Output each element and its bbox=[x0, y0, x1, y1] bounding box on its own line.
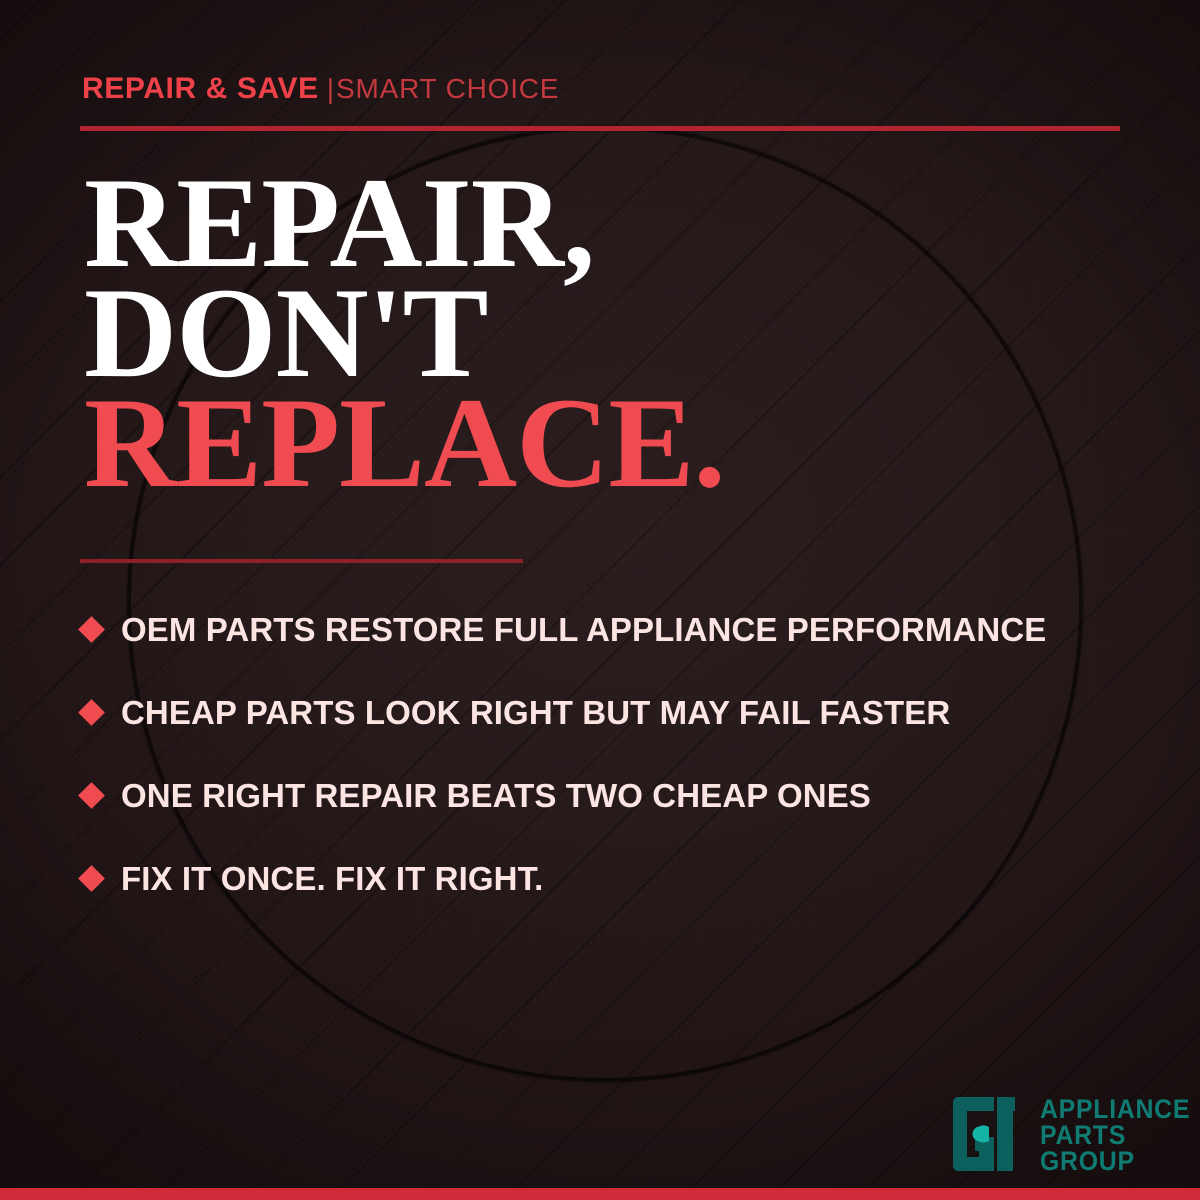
brand-logo-line-2: PARTS bbox=[1040, 1122, 1190, 1148]
diamond-bullet-icon bbox=[78, 699, 105, 726]
brand-logo-wordmark: APPLIANCE PARTS GROUP bbox=[1040, 1094, 1190, 1174]
list-item-label: OEM PARTS RESTORE FULL APPLIANCE PERFORM… bbox=[121, 611, 1046, 649]
list-item: ONE RIGHT REPAIR BEATS TWO CHEAP ONES bbox=[80, 754, 1155, 837]
headline-line-3: REPLACE. bbox=[84, 388, 725, 498]
eyebrow-kicker: REPAIR & SAVE bbox=[82, 72, 319, 105]
diamond-bullet-icon bbox=[78, 782, 105, 809]
diamond-bullet-icon bbox=[78, 616, 105, 643]
list-item-label: FIX IT ONCE. FIX IT RIGHT. bbox=[121, 860, 543, 898]
benefits-list: OEM PARTS RESTORE FULL APPLIANCE PERFORM… bbox=[80, 588, 1155, 920]
brand-logo-line-1: APPLIANCE bbox=[1040, 1096, 1190, 1122]
letter-g-monogram-icon bbox=[951, 1094, 1027, 1174]
brand-logo-line-3: GROUP bbox=[1040, 1148, 1190, 1174]
footer-accent-bar bbox=[0, 1188, 1200, 1200]
list-item: CHEAP PARTS LOOK RIGHT BUT MAY FAIL FAST… bbox=[80, 671, 1155, 754]
list-item-label: CHEAP PARTS LOOK RIGHT BUT MAY FAIL FAST… bbox=[121, 694, 950, 732]
page-title: REPAIR, DON'T REPLACE. bbox=[84, 168, 725, 498]
brand-logo: APPLIANCE PARTS GROUP bbox=[951, 1094, 1200, 1174]
eyebrow-tagline: SMART CHOICE bbox=[336, 73, 559, 104]
header-rule bbox=[80, 126, 1120, 131]
list-item: OEM PARTS RESTORE FULL APPLIANCE PERFORM… bbox=[80, 588, 1155, 671]
eyebrow-separator: | bbox=[327, 73, 334, 104]
eyebrow: REPAIR & SAVE|SMART CHOICE bbox=[82, 74, 559, 104]
poster-content: REPAIR & SAVE|SMART CHOICE REPAIR, DON'T… bbox=[0, 0, 1200, 1200]
diamond-bullet-icon bbox=[78, 865, 105, 892]
list-item-label: ONE RIGHT REPAIR BEATS TWO CHEAP ONES bbox=[121, 777, 871, 815]
section-divider bbox=[80, 559, 523, 563]
promo-poster: REPAIR & SAVE|SMART CHOICE REPAIR, DON'T… bbox=[0, 0, 1200, 1200]
list-item: FIX IT ONCE. FIX IT RIGHT. bbox=[80, 837, 1155, 920]
